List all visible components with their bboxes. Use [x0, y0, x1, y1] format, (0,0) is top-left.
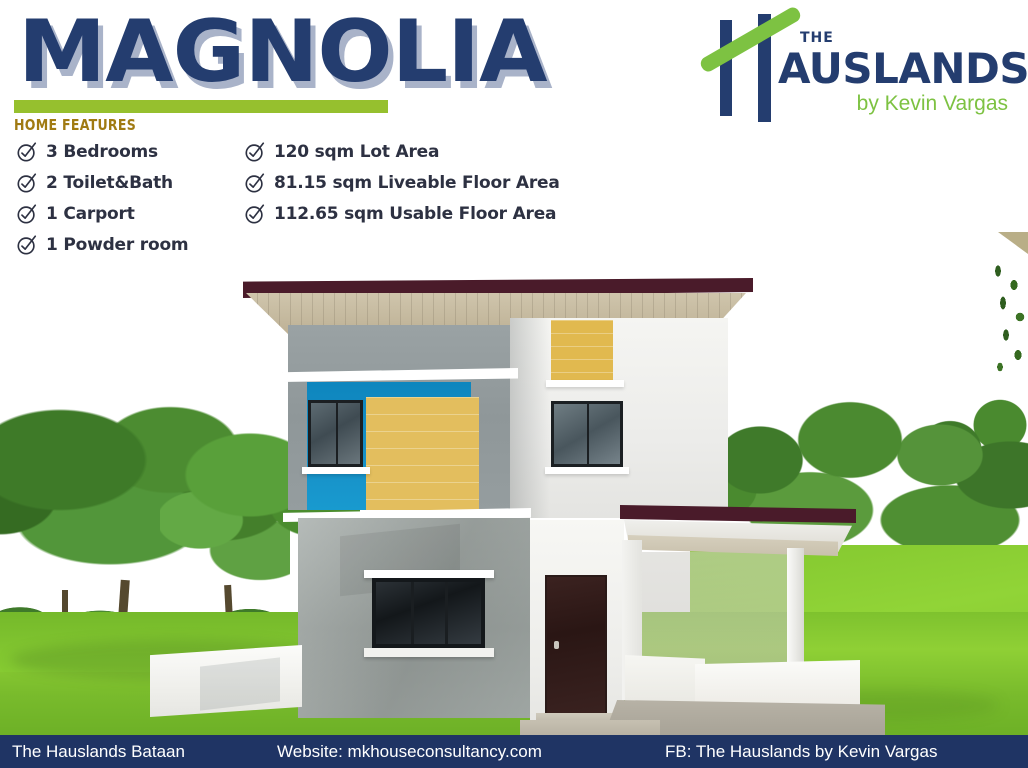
front-door — [545, 575, 607, 717]
list-item-label: 81.15 sqm Liveable Floor Area — [274, 173, 560, 193]
list-item-label: 2 Toilet&Bath — [46, 173, 173, 193]
check-circle-icon — [244, 203, 266, 225]
list-item: 1 Carport — [16, 200, 188, 227]
siding-panel-upper-right — [551, 320, 613, 380]
list-item-label: 1 Powder room — [46, 235, 188, 255]
list-item: 120 sqm Lot Area — [244, 138, 560, 165]
footer-location: The Hauslands Bataan — [12, 742, 185, 762]
window-sill — [546, 380, 624, 387]
marketing-poster: MAGNOLIA HOME FEATURES THE AUSLANDS by K… — [0, 0, 1028, 768]
check-circle-icon — [244, 172, 266, 194]
check-circle-icon — [16, 141, 38, 163]
list-item-label: 3 Bedrooms — [46, 142, 158, 162]
second-floor-wall-shadow — [510, 318, 550, 518]
list-item-label: 120 sqm Lot Area — [274, 142, 439, 162]
second-floor-window-right — [551, 401, 623, 467]
second-floor-window-left — [308, 400, 363, 467]
footer-bar: The Hauslands Bataan Website: mkhousecon… — [0, 735, 1028, 768]
check-circle-icon — [16, 203, 38, 225]
door-knob-icon — [554, 641, 559, 649]
footer-website[interactable]: Website: mkhouseconsultancy.com — [277, 742, 542, 762]
window-sill — [545, 467, 629, 474]
list-item: 1 Powder room — [16, 231, 188, 258]
list-item: 81.15 sqm Liveable Floor Area — [244, 169, 560, 196]
home-features-label: HOME FEATURES — [14, 116, 136, 134]
first-floor-sliding-window — [372, 578, 485, 648]
logo-byline: by Kevin Vargas — [857, 92, 1008, 116]
list-item: 112.65 sqm Usable Floor Area — [244, 200, 560, 227]
accent-bar — [14, 100, 388, 113]
logo-name-text: AUSLANDS — [778, 44, 1028, 93]
window-sill — [364, 648, 494, 657]
brand-logo[interactable]: THE AUSLANDS by Kevin Vargas — [700, 12, 1010, 120]
footer-facebook[interactable]: FB: The Hauslands by Kevin Vargas — [665, 742, 937, 762]
title-block: MAGNOLIA — [18, 4, 531, 100]
features-column-right: 120 sqm Lot Area 81.15 sqm Liveable Floo… — [244, 138, 560, 231]
list-item-label: 1 Carport — [46, 204, 135, 224]
list-item: 3 Bedrooms — [16, 138, 188, 165]
check-circle-icon — [244, 141, 266, 163]
window-sill — [302, 467, 370, 474]
features-column-left: 3 Bedrooms 2 Toilet&Bath 1 Carport 1 Pow… — [16, 138, 188, 262]
page-title: MAGNOLIA — [18, 4, 547, 100]
list-item: 2 Toilet&Bath — [16, 169, 188, 196]
siding-panel-main — [366, 397, 479, 510]
carport-roof-fascia — [620, 505, 856, 523]
window-lintel — [364, 570, 494, 578]
check-circle-icon — [16, 234, 38, 256]
list-item-label: 112.65 sqm Usable Floor Area — [274, 204, 556, 224]
check-circle-icon — [16, 172, 38, 194]
poster-header: MAGNOLIA HOME FEATURES THE AUSLANDS by K… — [0, 0, 1028, 140]
